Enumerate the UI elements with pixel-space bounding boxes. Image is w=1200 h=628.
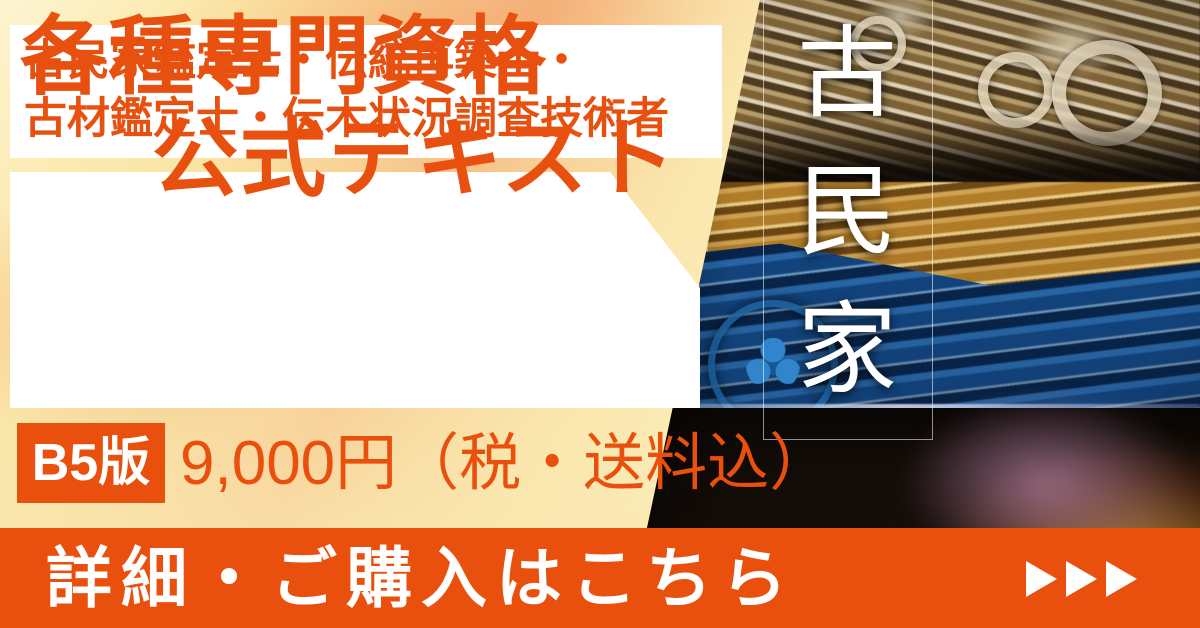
promo-banner: 古 民 家 伝統構法 古民家活用のための調査と再生の 古民家鑑定士・伝統再築士・…: [0, 0, 1200, 628]
cover-title-char-1: 古: [768, 6, 928, 144]
cta-label[interactable]: 詳細・ご購入はこちら: [46, 528, 796, 628]
cta-arrows: [1026, 561, 1137, 597]
title-line-1: 各種専門資格: [20, 14, 548, 100]
cover-title-char-2: 民: [768, 144, 928, 282]
cta-bar[interactable]: 詳細・ご購入はこちら: [0, 528, 1200, 628]
wood-swirl-mid-icon: [978, 52, 1054, 128]
cover-title-char-3: 家: [768, 282, 928, 420]
format-badge: B5版: [17, 423, 165, 503]
triangle-right-icon: [1026, 561, 1057, 597]
title-line-2: 公式テキスト: [152, 116, 677, 202]
triangle-right-icon: [1106, 561, 1137, 597]
triangle-right-icon: [1066, 561, 1097, 597]
price-text: 9,000円（税・送料込）: [180, 424, 831, 504]
cover-title: 古 民 家: [768, 6, 928, 420]
title-panel: [10, 172, 700, 408]
